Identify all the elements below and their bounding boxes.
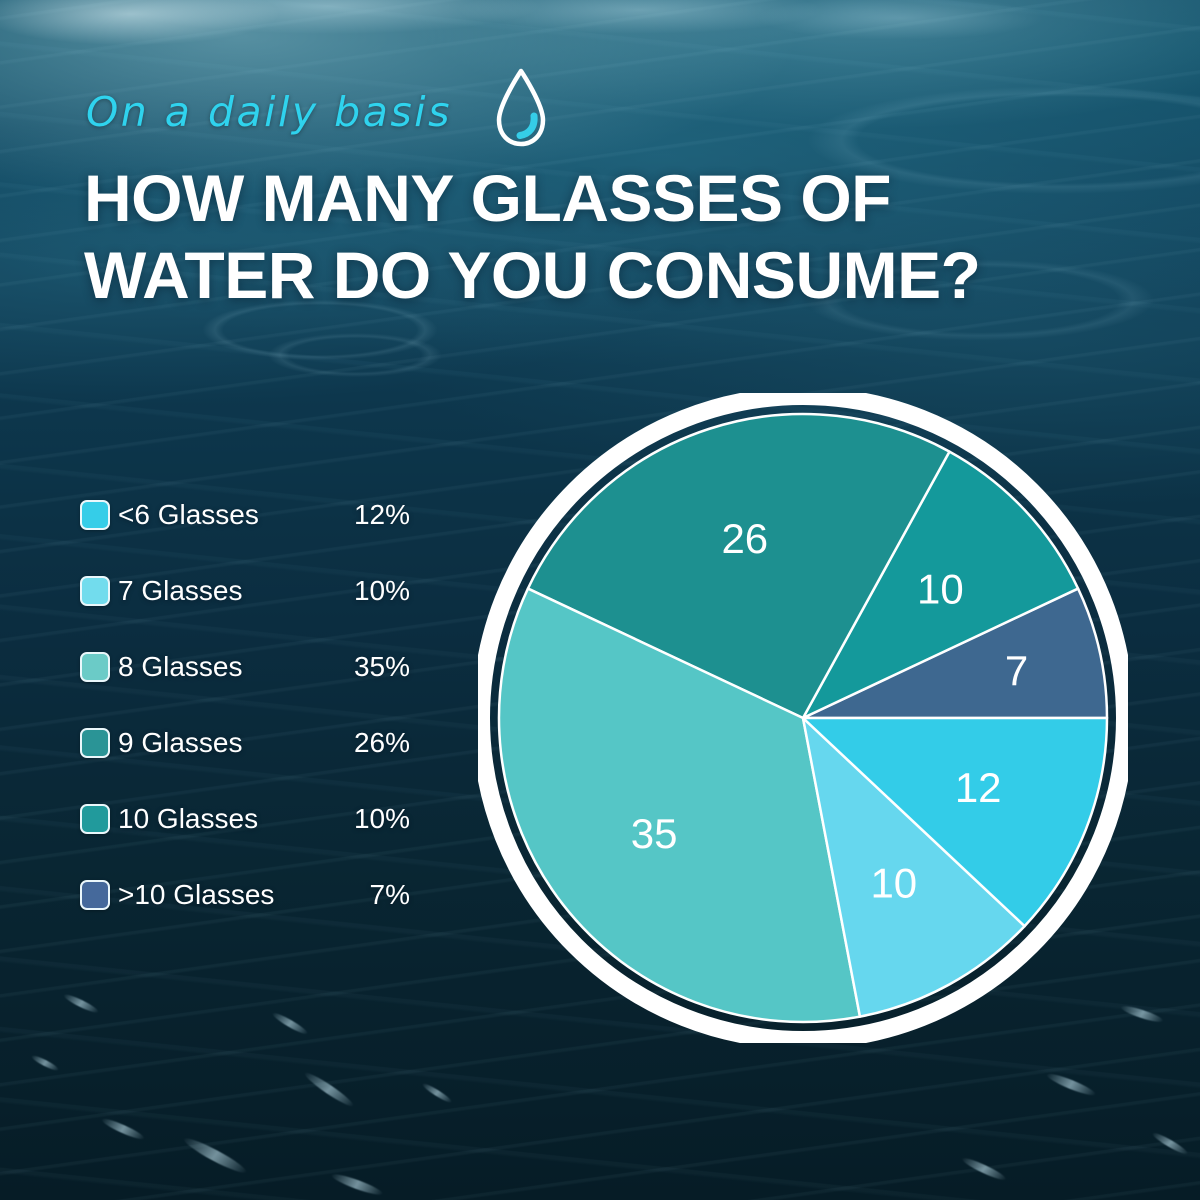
pie-slice-group [499, 414, 1107, 1022]
legend-percent: 10% [354, 575, 410, 607]
legend-label: 9 Glasses [118, 727, 243, 759]
legend-percent: 12% [354, 499, 410, 531]
legend-label: 8 Glasses [118, 651, 243, 683]
legend-percent: 7% [370, 879, 410, 911]
legend-label: <6 Glasses [118, 499, 259, 531]
legend-percent: 10% [354, 803, 410, 835]
legend-percent: 35% [354, 651, 410, 683]
kicker-text: On a daily basis [86, 88, 452, 136]
legend-label: >10 Glasses [118, 879, 274, 911]
legend-label: 10 Glasses [118, 803, 258, 835]
legend-item-gt10-glasses[interactable]: >10 Glasses 7% [80, 876, 410, 914]
chart-legend: <6 Glasses 12% 7 Glasses 10% 8 Glasses 3… [80, 496, 410, 914]
legend-item-10-glasses[interactable]: 10 Glasses 10% [80, 800, 410, 838]
legend-swatch [80, 576, 110, 606]
pie-slice-label: 10 [917, 566, 964, 613]
pie-slice-label: 26 [721, 515, 768, 562]
legend-swatch [80, 652, 110, 682]
pie-slice-label: 10 [870, 860, 917, 907]
legend-item-lt6-glasses[interactable]: <6 Glasses 12% [80, 496, 410, 534]
page-title-line-2: WATER DO YOU CONSUME? [84, 237, 1034, 314]
pie-slice-label: 12 [955, 764, 1002, 811]
legend-swatch [80, 804, 110, 834]
legend-swatch [80, 880, 110, 910]
legend-swatch [80, 728, 110, 758]
legend-item-8-glasses[interactable]: 8 Glasses 35% [80, 648, 410, 686]
legend-swatch [80, 500, 110, 530]
legend-label: 7 Glasses [118, 575, 243, 607]
pie-chart: 71026351012 [478, 393, 1128, 1043]
infographic-poster: On a daily basis HOW MANY GLASSES OF WAT… [0, 0, 1200, 1200]
page-title-line-1: HOW MANY GLASSES OF [84, 161, 891, 235]
pie-slice-label: 35 [631, 810, 678, 857]
water-drop-icon [492, 67, 550, 149]
page-title: HOW MANY GLASSES OF WATER DO YOU CONSUME… [84, 160, 1034, 314]
legend-item-9-glasses[interactable]: 9 Glasses 26% [80, 724, 410, 762]
pie-slice-label: 7 [1005, 647, 1028, 694]
legend-item-7-glasses[interactable]: 7 Glasses 10% [80, 572, 410, 610]
legend-percent: 26% [354, 727, 410, 759]
